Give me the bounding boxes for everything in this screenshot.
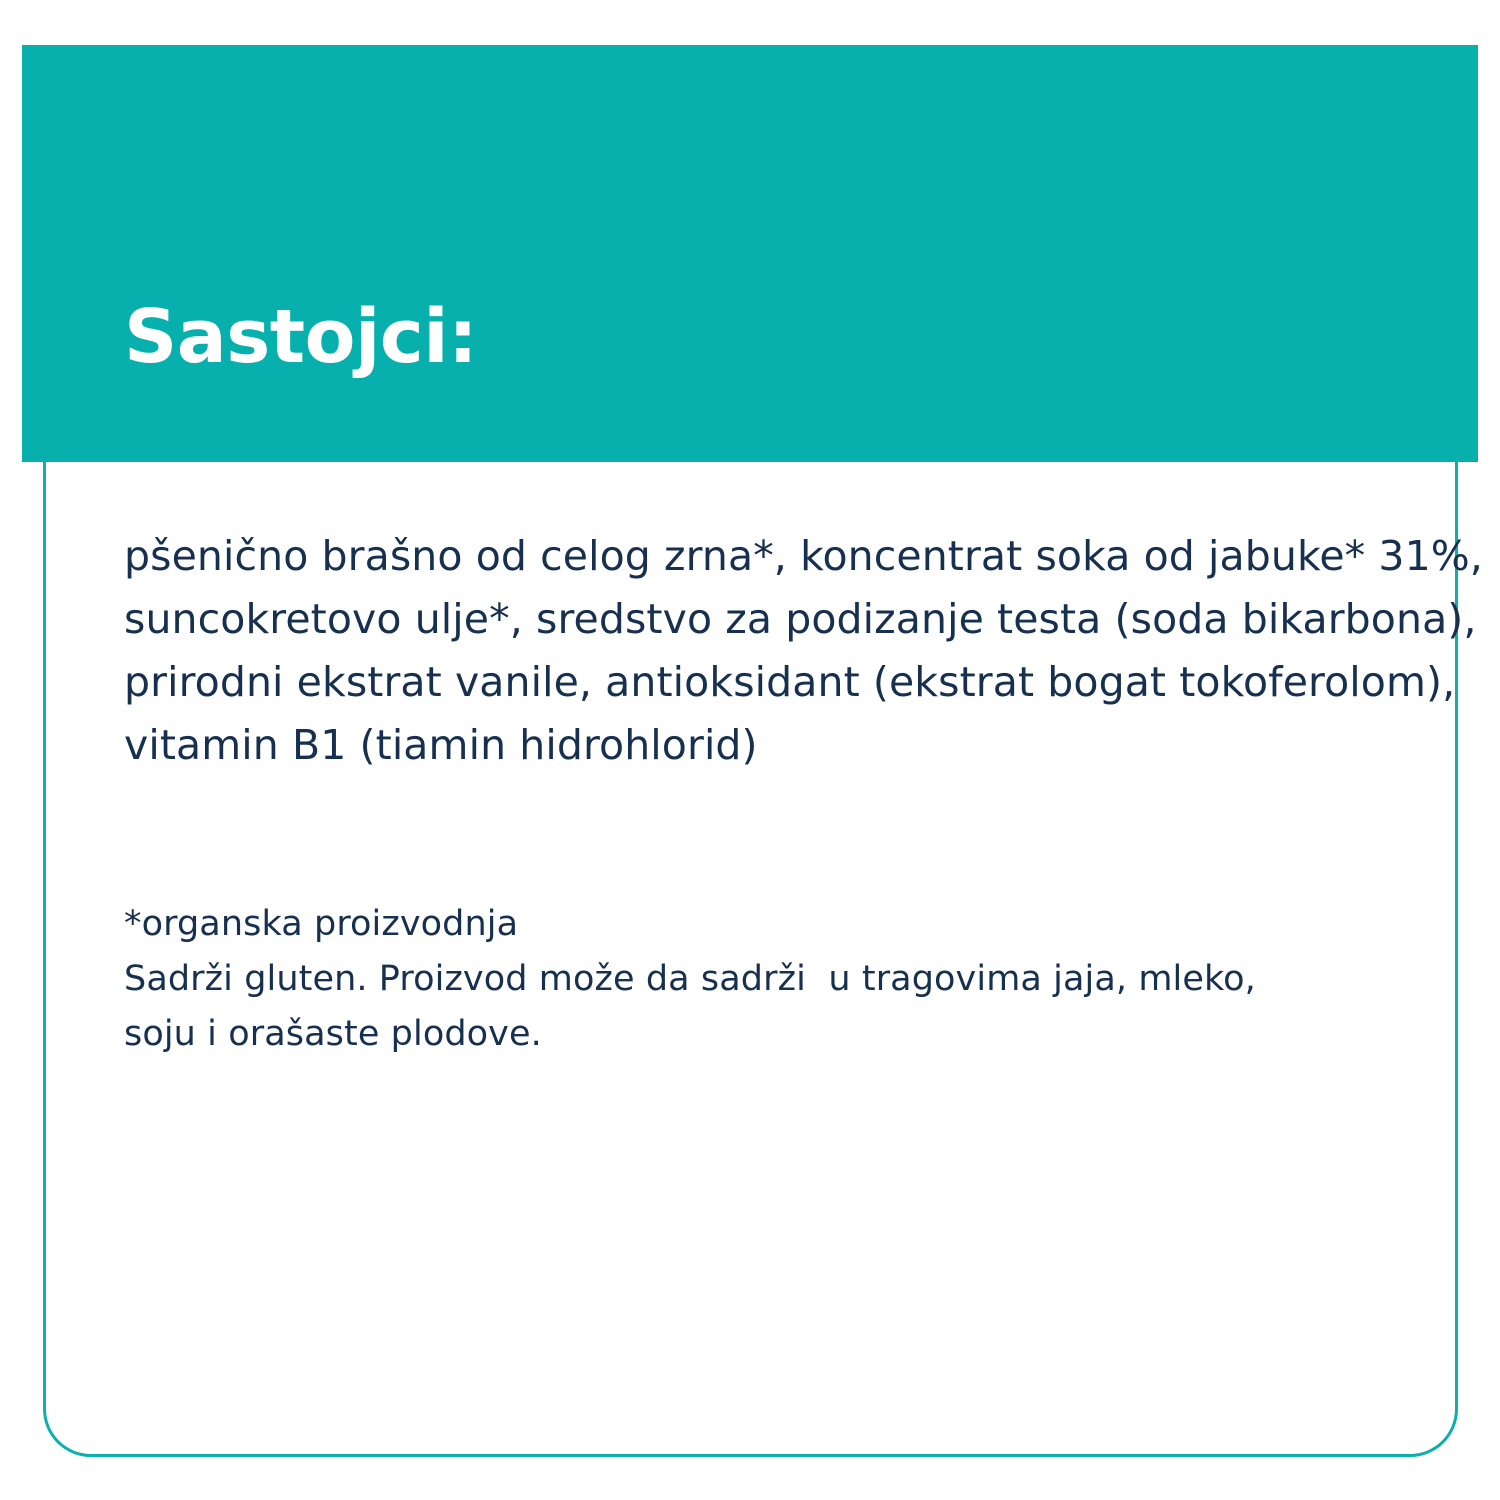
ingredients-card: Sastojci: pšenično brašno od celog zrna*… [22, 45, 1478, 1457]
ingredients-line: vitamin B1 (tiamin hidrohlorid) [124, 714, 1404, 777]
allergen-note-line: Sadrži gluten. Proizvod može da sadrži u… [124, 952, 1404, 1007]
allergen-note-line: soju i orašaste plodove. [124, 1007, 1404, 1062]
ingredients-line: suncokretovo ulje*, sredstvo za podizanj… [124, 588, 1404, 651]
card-header-band: Sastojci: [22, 45, 1478, 462]
card-content: pšenično brašno od celog zrna*, koncentr… [124, 525, 1404, 1062]
ingredients-line: prirodni ekstrat vanile, antioksidant (e… [124, 651, 1404, 714]
ingredients-line: pšenično brašno od celog zrna*, koncentr… [124, 525, 1404, 588]
ingredients-list: pšenično brašno od celog zrna*, koncentr… [124, 525, 1404, 777]
notes-block: *organska proizvodnja Sadrži gluten. Pro… [124, 777, 1404, 1062]
page-title: Sastojci: [124, 300, 477, 374]
organic-footnote: *organska proizvodnja [124, 897, 1404, 952]
